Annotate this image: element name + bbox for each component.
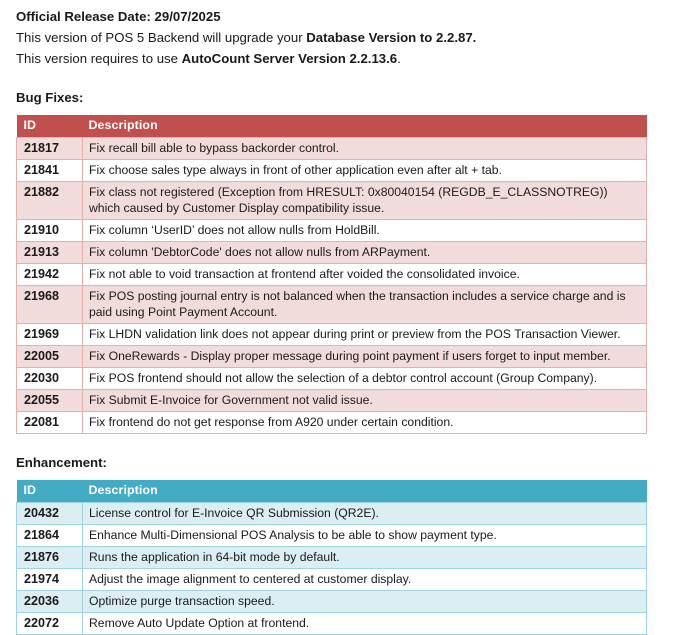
enhancement-heading: Enhancement:: [16, 452, 660, 473]
enhancement-description: Runs the application in 64-bit mode by d…: [83, 547, 647, 569]
server-version-line-suffix: .: [397, 51, 401, 66]
bug-fix-description: Fix Submit E-Invoice for Government not …: [83, 390, 647, 412]
enhancement-id: 21864: [17, 525, 83, 547]
enhancement-header-row: ID Description: [17, 480, 647, 503]
bug-fix-id: 21969: [17, 324, 83, 346]
table-row: 22036 Optimize purge transaction speed.: [17, 591, 647, 613]
table-row: 21841 Fix choose sales type always in fr…: [17, 160, 647, 182]
bug-fixes-heading: Bug Fixes:: [16, 87, 660, 108]
enhancement-table: ID Description 20432 License control for…: [16, 480, 647, 635]
table-row: 21882 Fix class not registered (Exceptio…: [17, 182, 647, 220]
database-version-line-prefix: This version of POS 5 Backend will upgra…: [16, 30, 306, 45]
bug-fix-id: 21841: [17, 160, 83, 182]
table-row: 21942 Fix not able to void transaction a…: [17, 264, 647, 286]
official-release-date-line: Official Release Date: 29/07/2025: [16, 6, 660, 27]
enhancement-column-id: ID: [17, 480, 83, 503]
server-version-line-prefix: This version requires to use: [16, 51, 182, 66]
bug-fix-description: Fix LHDN validation link does not appear…: [83, 324, 647, 346]
bug-fixes-body: 21817 Fix recall bill able to bypass bac…: [17, 138, 647, 434]
database-version-value: Database Version to 2.2.87.: [306, 30, 476, 45]
bug-fix-description: Fix POS frontend should not allow the se…: [83, 368, 647, 390]
table-row: 21974 Adjust the image alignment to cent…: [17, 569, 647, 591]
bug-fix-description: Fix recall bill able to bypass backorder…: [83, 138, 647, 160]
table-row: 22030 Fix POS frontend should not allow …: [17, 368, 647, 390]
intro-block: Official Release Date: 29/07/2025 This v…: [16, 6, 660, 69]
bug-fix-id: 21968: [17, 286, 83, 324]
table-row: 22005 Fix OneRewards - Display proper me…: [17, 346, 647, 368]
bug-fix-id: 21882: [17, 182, 83, 220]
table-row: 21876 Runs the application in 64-bit mod…: [17, 547, 647, 569]
bug-fix-description: Fix class not registered (Exception from…: [83, 182, 647, 220]
enhancement-body: 20432 License control for E-Invoice QR S…: [17, 503, 647, 635]
enhancement-id: 21876: [17, 547, 83, 569]
enhancement-description: Enhance Multi-Dimensional POS Analysis t…: [83, 525, 647, 547]
enhancement-column-description: Description: [83, 480, 647, 503]
enhancement-id: 22072: [17, 613, 83, 635]
bug-fix-id: 21910: [17, 220, 83, 242]
table-row: 22081 Fix frontend do not get response f…: [17, 412, 647, 434]
enhancement-id: 21974: [17, 569, 83, 591]
bug-fix-description: Fix not able to void transaction at fron…: [83, 264, 647, 286]
enhancement-description: Remove Auto Update Option at frontend.: [83, 613, 647, 635]
enhancement-description: License control for E-Invoice QR Submiss…: [83, 503, 647, 525]
enhancement-description: Optimize purge transaction speed.: [83, 591, 647, 613]
bug-fix-description: Fix choose sales type always in front of…: [83, 160, 647, 182]
release-notes-page: Official Release Date: 29/07/2025 This v…: [0, 0, 676, 603]
server-version-line: This version requires to use AutoCount S…: [16, 48, 660, 69]
bug-fix-id: 22005: [17, 346, 83, 368]
bug-fixes-column-id: ID: [17, 115, 83, 138]
bug-fix-description: Fix frontend do not get response from A9…: [83, 412, 647, 434]
bug-fixes-header-row: ID Description: [17, 115, 647, 138]
server-version-value: AutoCount Server Version 2.2.13.6: [182, 51, 397, 66]
bug-fix-description: Fix column 'DebtorCode' does not allow n…: [83, 242, 647, 264]
bug-fix-id: 22055: [17, 390, 83, 412]
table-row: 22072 Remove Auto Update Option at front…: [17, 613, 647, 635]
bug-fix-id: 21817: [17, 138, 83, 160]
table-row: 21817 Fix recall bill able to bypass bac…: [17, 138, 647, 160]
bug-fixes-table: ID Description 21817 Fix recall bill abl…: [16, 115, 647, 434]
table-row: 21864 Enhance Multi-Dimensional POS Anal…: [17, 525, 647, 547]
bug-fix-id: 22030: [17, 368, 83, 390]
table-row: 22055 Fix Submit E-Invoice for Governmen…: [17, 390, 647, 412]
enhancement-description: Adjust the image alignment to centered a…: [83, 569, 647, 591]
enhancement-id: 22036: [17, 591, 83, 613]
enhancement-id: 20432: [17, 503, 83, 525]
table-row: 20432 License control for E-Invoice QR S…: [17, 503, 647, 525]
bug-fix-id: 21913: [17, 242, 83, 264]
bug-fixes-column-description: Description: [83, 115, 647, 138]
table-row: 21913 Fix column 'DebtorCode' does not a…: [17, 242, 647, 264]
bug-fix-description: Fix POS posting journal entry is not bal…: [83, 286, 647, 324]
bug-fix-description: Fix column ‘UserID’ does not allow nulls…: [83, 220, 647, 242]
bug-fix-description: Fix OneRewards - Display proper message …: [83, 346, 647, 368]
bug-fix-id: 22081: [17, 412, 83, 434]
table-row: 21968 Fix POS posting journal entry is n…: [17, 286, 647, 324]
bug-fix-id: 21942: [17, 264, 83, 286]
table-row: 21910 Fix column ‘UserID’ does not allow…: [17, 220, 647, 242]
database-version-line: This version of POS 5 Backend will upgra…: [16, 27, 660, 48]
table-row: 21969 Fix LHDN validation link does not …: [17, 324, 647, 346]
